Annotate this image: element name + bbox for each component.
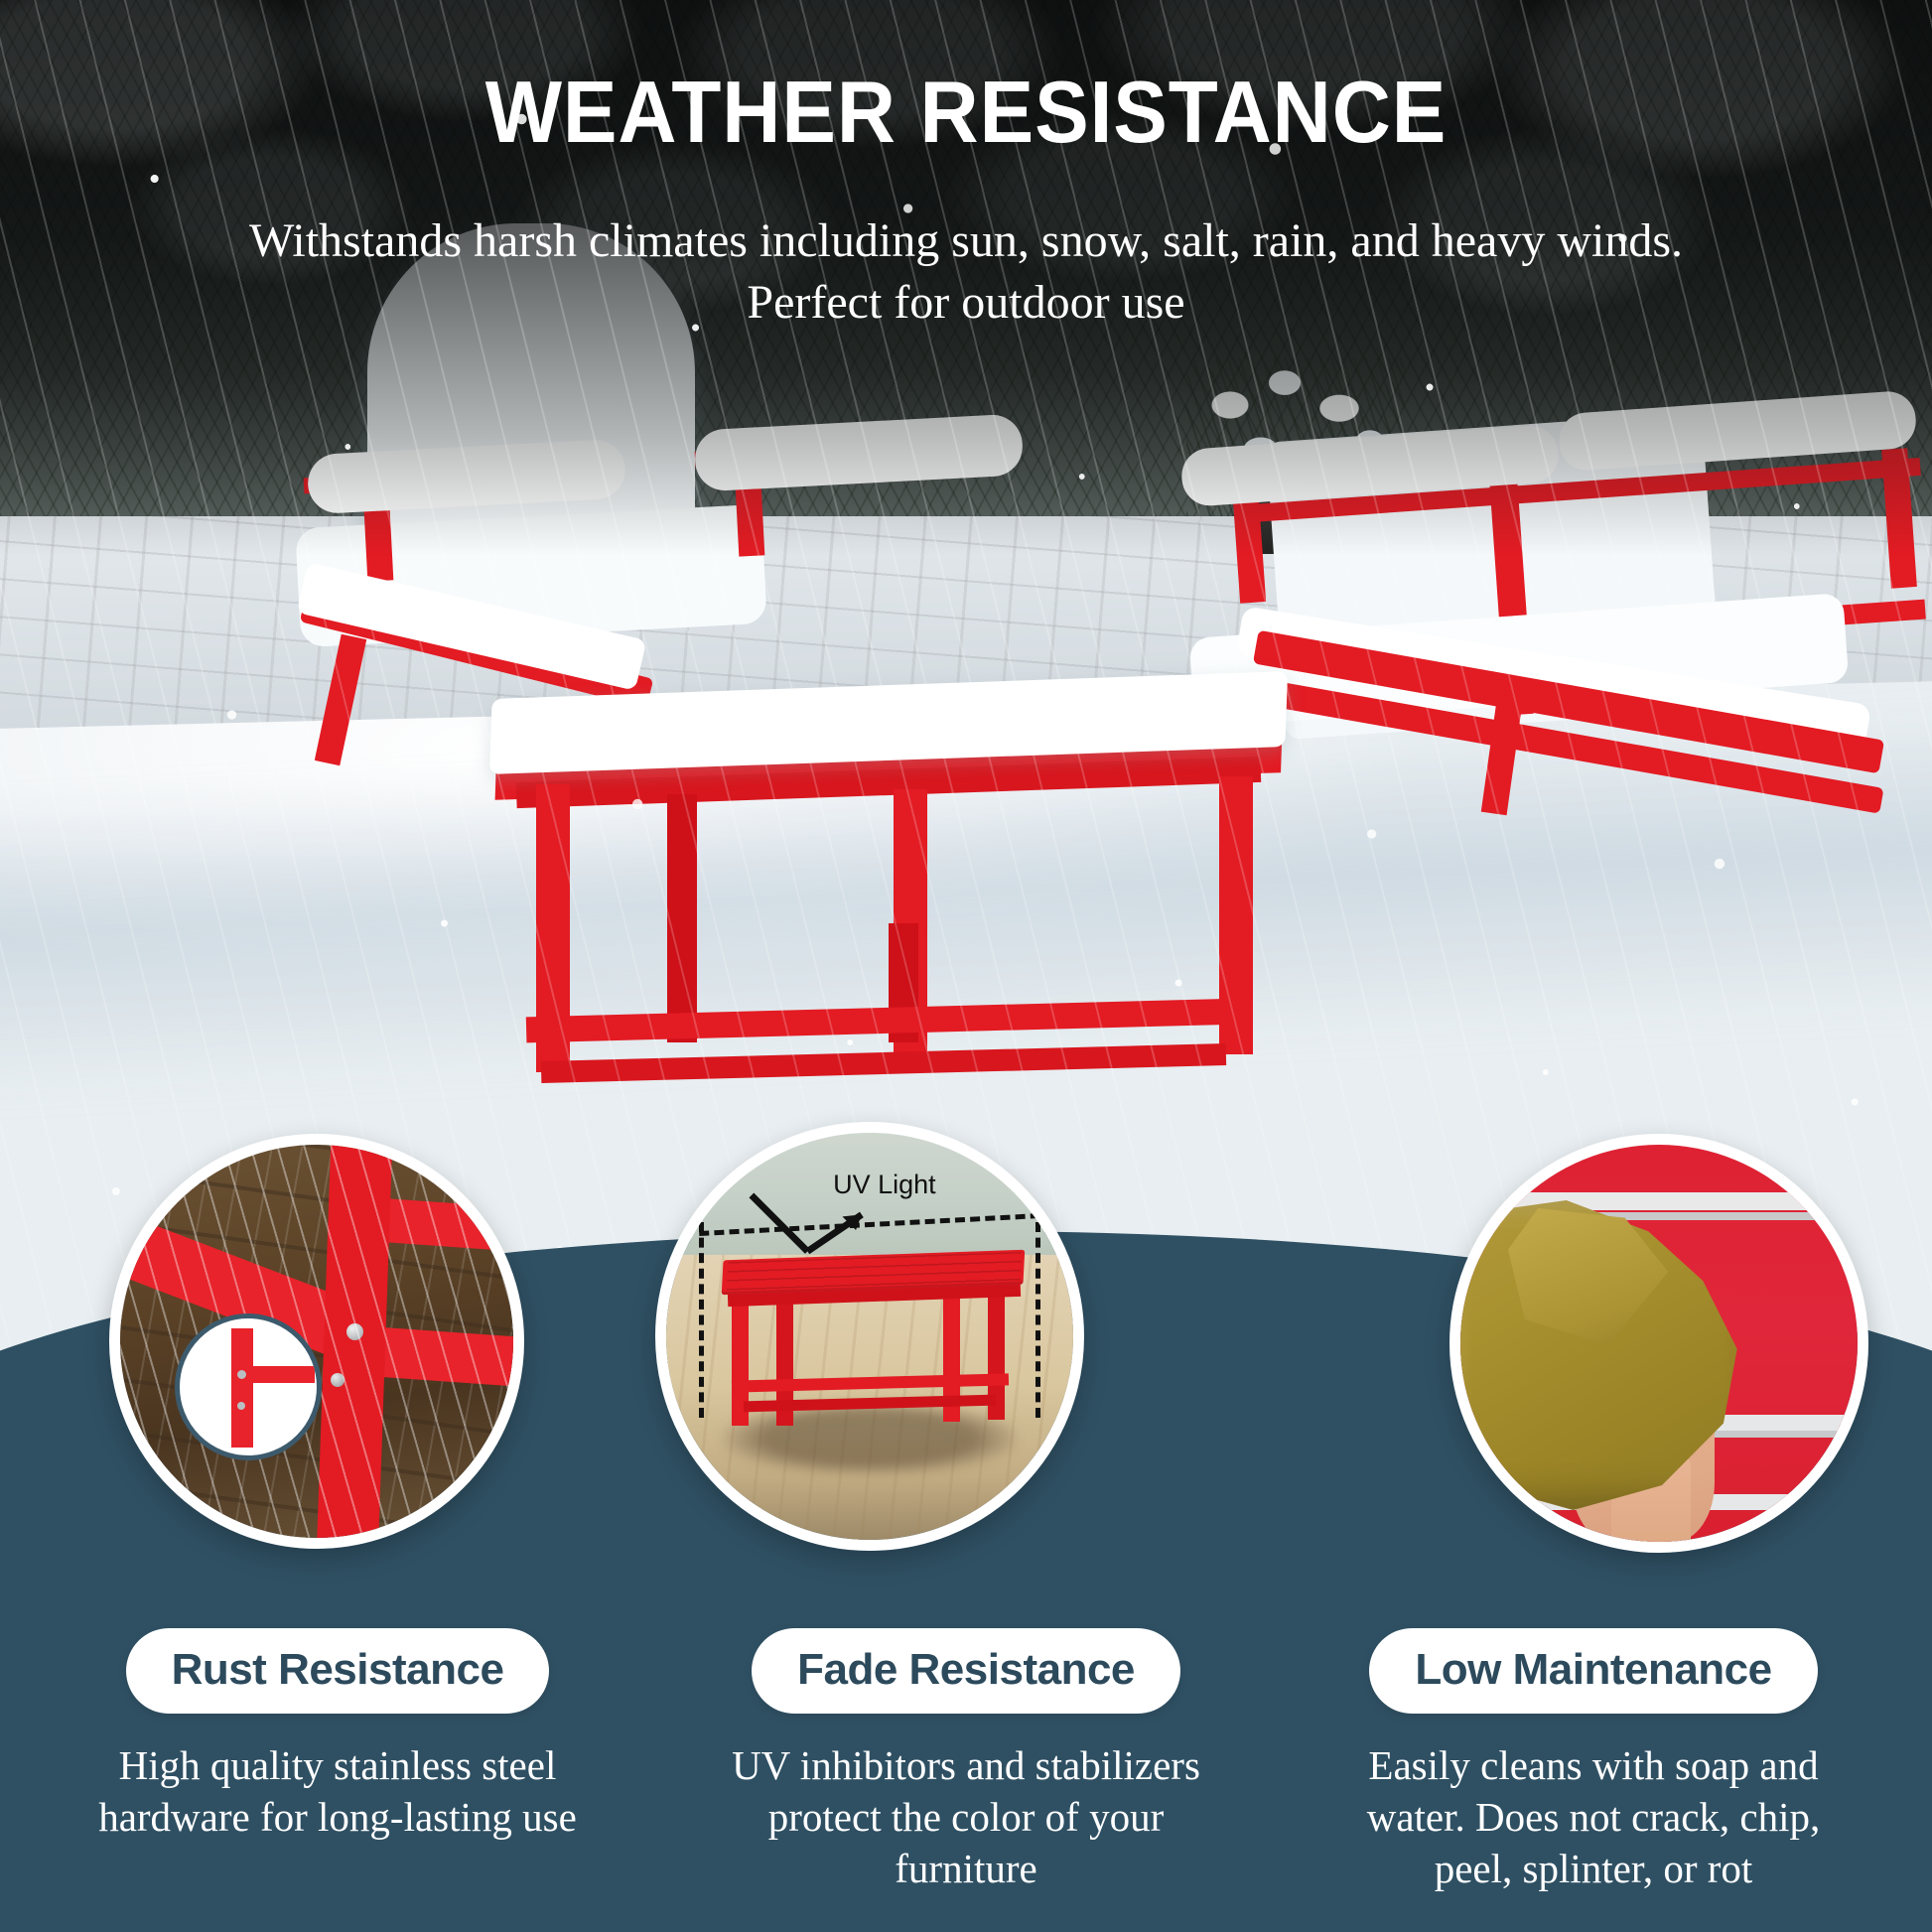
badge-fade-resistance[interactable]: Fade Resistance [752,1628,1180,1714]
feature-card-fade-resistance: Fade Resistance UV inhibitors and stabil… [653,1628,1279,1894]
page-title: WEATHER RESISTANCE [68,62,1864,163]
rain-streaks [120,1145,513,1538]
feature-description-low-maintenance: Easily cleans with soap and water. Does … [1281,1739,1906,1894]
feature-cards: Rust Resistance High quality stainless s… [0,1628,1932,1932]
feature-description-rust-resistance: High quality stainless steel hardware fo… [25,1739,650,1843]
uv-light-label: UV Light [833,1170,936,1200]
inset-detail-circle [175,1313,322,1460]
feature-circle-low-maintenance [1449,1134,1868,1553]
badge-low-maintenance[interactable]: Low Maintenance [1369,1628,1817,1714]
feature-circle-rust-resistance [109,1134,524,1549]
infographic-page: WEATHER RESISTANCE Withstands harsh clim… [0,0,1932,1932]
feature-circle-fade-resistance: UV Light [655,1122,1084,1551]
page-subtitle: Withstands harsh climates including sun,… [241,210,1691,335]
feature-description-fade-resistance: UV inhibitors and stabilizers protect th… [653,1739,1279,1894]
badge-rust-resistance[interactable]: Rust Resistance [126,1628,550,1714]
feature-card-low-maintenance: Low Maintenance Easily cleans with soap … [1281,1628,1906,1894]
uv-light-arrow-icon [748,1189,902,1271]
feature-card-rust-resistance: Rust Resistance High quality stainless s… [25,1628,650,1843]
